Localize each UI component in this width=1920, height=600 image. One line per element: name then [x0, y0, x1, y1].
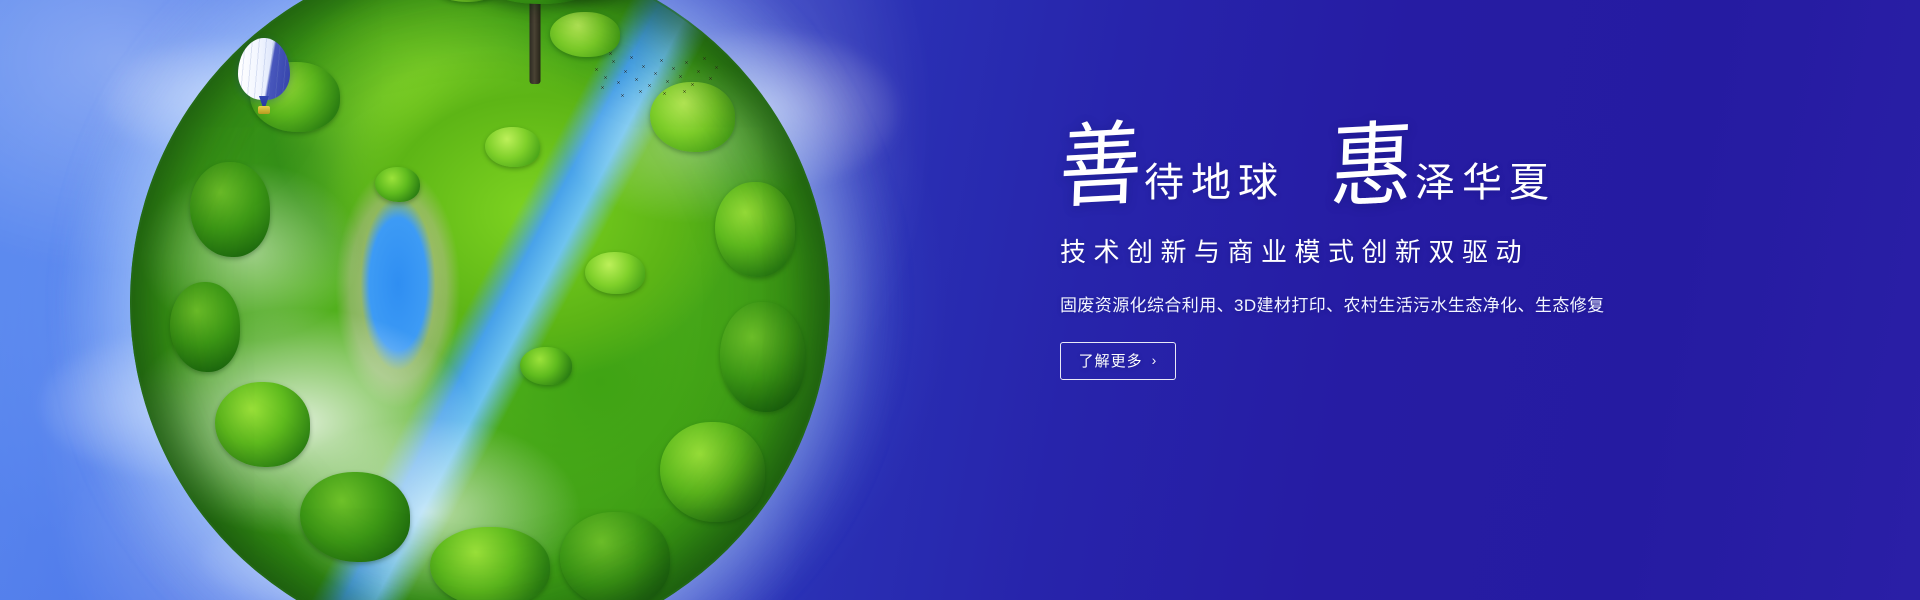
hero-banner: 善 待地球 惠 泽华夏 技术创新与商业模式创新双驱动 固废资源化综合利用、3D建…	[0, 0, 1920, 600]
learn-more-button[interactable]: 了解更多 ›	[1060, 342, 1176, 380]
little-planet-globe	[130, 0, 830, 600]
hero-headline: 善 待地球 惠 泽华夏	[1058, 118, 1738, 214]
learn-more-label: 了解更多	[1079, 354, 1143, 369]
headline-calligraphy-hui: 惠	[1329, 121, 1418, 214]
hero-description: 固废资源化综合利用、3D建材打印、农村生活污水生态净化、生态修复	[1060, 291, 1738, 316]
headline-text-zehuaxia: 泽华夏	[1415, 150, 1556, 214]
hero-copy-block: 善 待地球 惠 泽华夏 技术创新与商业模式创新双驱动 固废资源化综合利用、3D建…	[1058, 118, 1738, 380]
hot-air-balloon	[238, 38, 290, 118]
chevron-right-icon: ›	[1152, 353, 1158, 367]
headline-calligraphy-shan: 善	[1058, 121, 1147, 214]
planet-surface	[130, 0, 830, 600]
hero-subtitle: 技术创新与商业模式创新双驱动	[1060, 232, 1738, 269]
planet-edge-shading	[130, 0, 830, 600]
headline-text-daidiqiu: 待地球	[1144, 150, 1285, 214]
